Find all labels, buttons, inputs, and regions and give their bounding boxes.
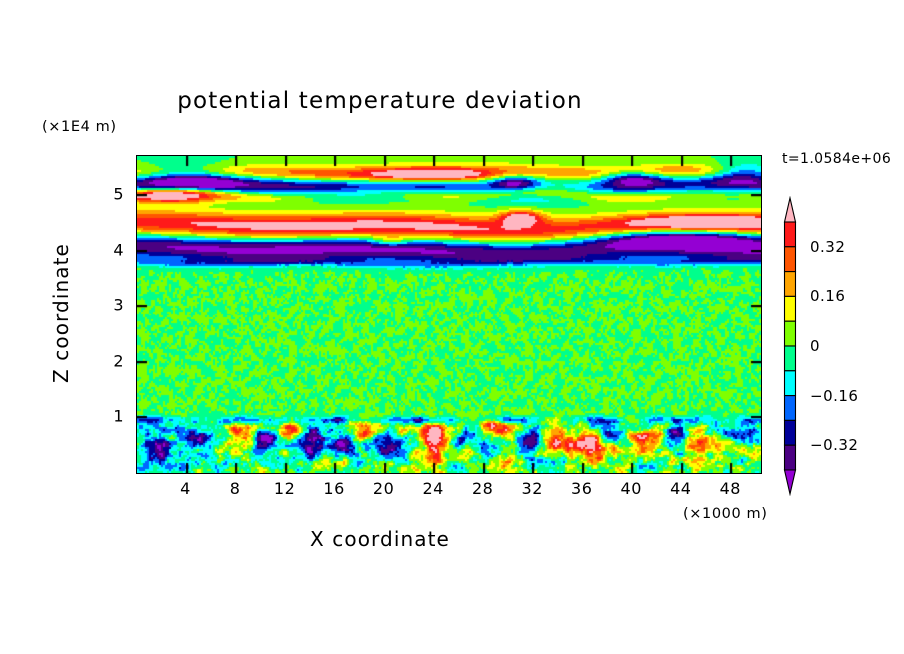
colorbar-label-0: 0.32 [810, 238, 845, 256]
x-tick-label-7: 32 [522, 479, 543, 498]
x-tick-label-5: 24 [422, 479, 443, 498]
colorbar-label-2: 0 [810, 337, 820, 355]
x-axis-unit-label: (×1000 m) [683, 506, 768, 522]
x-axis-title: X coordinate [0, 527, 760, 551]
x-tick-label-3: 16 [323, 479, 344, 498]
colorbar [777, 196, 803, 496]
colorbar-label-1: 0.16 [810, 287, 845, 305]
plot-area [136, 155, 762, 474]
figure-canvas: potential temperature deviation (×1E4 m)… [0, 0, 904, 654]
x-tick-label-1: 8 [230, 479, 241, 498]
x-tick-label-9: 40 [621, 479, 642, 498]
y-tick-label-4: 5 [113, 184, 124, 203]
y-tick-label-0: 1 [113, 407, 124, 426]
timestamp-annotation: t=1.0584e+06 [782, 151, 891, 167]
y-tick-label-2: 3 [113, 296, 124, 315]
x-tick-label-4: 20 [373, 479, 394, 498]
x-tick-label-2: 12 [274, 479, 295, 498]
y-axis-unit-label: (×1E4 m) [42, 119, 117, 135]
colorbar-label-4: −0.32 [810, 436, 858, 454]
x-tick-label-8: 36 [571, 479, 592, 498]
colorbar-label-3: −0.16 [810, 387, 858, 405]
x-tick-label-0: 4 [180, 479, 191, 498]
contour-field [137, 156, 761, 473]
x-tick-label-6: 28 [472, 479, 493, 498]
y-tick-label-3: 4 [113, 240, 124, 259]
x-tick-label-11: 48 [720, 479, 741, 498]
page-title: potential temperature deviation [0, 88, 760, 114]
x-tick-label-10: 44 [670, 479, 691, 498]
y-tick-label-1: 2 [113, 351, 124, 370]
y-axis-title: Z coordinate [49, 243, 73, 383]
